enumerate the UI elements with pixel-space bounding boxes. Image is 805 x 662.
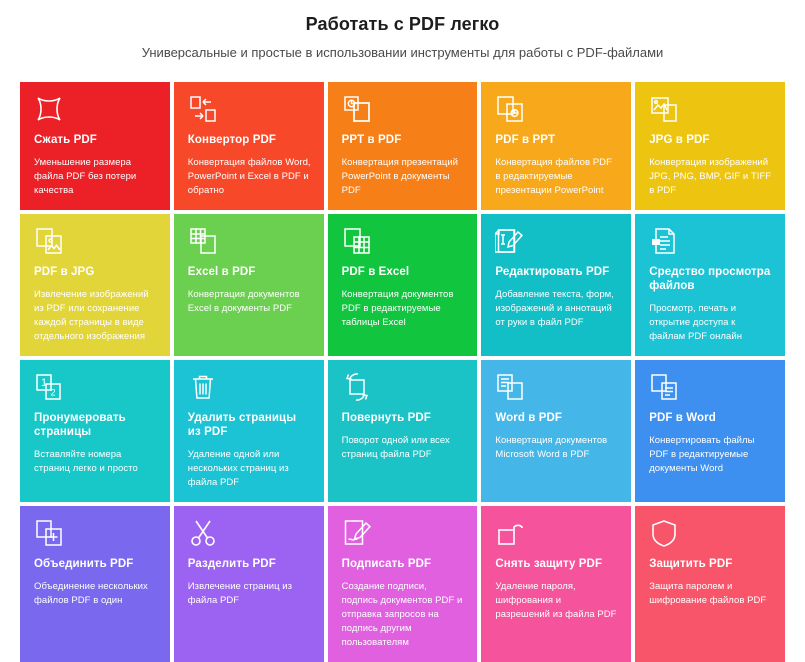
page-header: Работать с PDF легко Универсальные и про…: [0, 0, 805, 62]
pdf-to-ppt-icon: [495, 94, 527, 124]
tool-card[interactable]: Защитить PDFЗащита паролем и шифрование …: [635, 506, 785, 662]
excel-to-pdf-icon: [188, 226, 220, 256]
tool-name: Подписать PDF: [342, 557, 465, 571]
tool-card[interactable]: PPT в PDFКонвертация презентаций PowerPo…: [328, 82, 478, 210]
tool-card[interactable]: Редактировать PDFДобавление текста, форм…: [481, 214, 631, 356]
compress-icon: [34, 94, 66, 124]
tool-name: Excel в PDF: [188, 265, 311, 279]
convert-icon: [188, 94, 220, 124]
tool-description: Просмотр, печать и открытие доступа к фа…: [649, 302, 772, 344]
ppt-to-pdf-icon: [342, 94, 374, 124]
tool-card[interactable]: Сжать PDFУменьшение размера файла PDF бе…: [20, 82, 170, 210]
jpg-to-pdf-icon: [649, 94, 681, 124]
tool-card[interactable]: JPG в PDFКонвертация изображений JPG, PN…: [635, 82, 785, 210]
unlock-icon: [495, 518, 527, 548]
tool-card[interactable]: 12Пронумеровать страницыВставляйте номер…: [20, 360, 170, 502]
page-numbers-icon: 12: [34, 372, 66, 402]
tool-name: Снять защиту PDF: [495, 557, 618, 571]
tool-name: Сжать PDF: [34, 133, 157, 147]
tool-name: PDF в Word: [649, 411, 772, 425]
tool-description: Удаление одной или нескольких страниц из…: [188, 448, 311, 490]
tool-name: Защитить PDF: [649, 557, 772, 571]
tool-card[interactable]: Конвертор PDFКонвертация файлов Word, Po…: [174, 82, 324, 210]
tool-name: Редактировать PDF: [495, 265, 618, 279]
tool-card[interactable]: Повернуть PDFПоворот одной или всех стра…: [328, 360, 478, 502]
tool-name: Удалить страницы из PDF: [188, 411, 311, 439]
tool-card[interactable]: PDF в ExcelКонвертация документов PDF в …: [328, 214, 478, 356]
tool-description: Конвертация изображений JPG, PNG, BMP, G…: [649, 156, 772, 198]
tool-description: Добавление текста, форм, изображений и а…: [495, 288, 618, 330]
tool-name: Конвертор PDF: [188, 133, 311, 147]
pdf-to-word-icon: [649, 372, 681, 402]
tool-card[interactable]: Подписать PDFСоздание подписи, подпись д…: [328, 506, 478, 662]
tool-description: Конвертация файлов Word, PowerPoint и Ex…: [188, 156, 311, 198]
file-viewer-icon: [649, 226, 681, 256]
tool-card[interactable]: Снять защиту PDFУдаление пароля, шифрова…: [481, 506, 631, 662]
tool-card[interactable]: Разделить PDFИзвлечение страниц из файла…: [174, 506, 324, 662]
tool-description: Создание подписи, подпись документов PDF…: [342, 580, 465, 650]
tool-description: Конвертация презентаций PowerPoint в док…: [342, 156, 465, 198]
tool-card[interactable]: Excel в PDFКонвертация документов Excel …: [174, 214, 324, 356]
rotate-icon: [342, 372, 374, 402]
tool-name: Разделить PDF: [188, 557, 311, 571]
tool-description: Конвертация документов PDF в редактируем…: [342, 288, 465, 330]
shield-icon: [649, 518, 681, 548]
svg-text:1: 1: [41, 377, 47, 389]
page-title: Работать с PDF легко: [0, 12, 805, 36]
tool-card[interactable]: PDF в PPTКонвертация файлов PDF в редакт…: [481, 82, 631, 210]
tool-description: Уменьшение размера файла PDF без потери …: [34, 156, 157, 198]
tool-name: PDF в PPT: [495, 133, 618, 147]
edit-pdf-icon: [495, 226, 527, 256]
word-to-pdf-icon: [495, 372, 527, 402]
tool-name: PDF в JPG: [34, 265, 157, 279]
tool-description: Конвертация документов Microsoft Word в …: [495, 434, 618, 462]
tool-name: PDF в Excel: [342, 265, 465, 279]
tool-description: Объединение нескольких файлов PDF в один: [34, 580, 157, 608]
tool-name: Средство просмотра файлов: [649, 265, 772, 293]
scissors-icon: [188, 518, 220, 548]
sign-icon: [342, 518, 374, 548]
tool-name: Пронумеровать страницы: [34, 411, 157, 439]
tool-description: Извлечение изображений из PDF или сохран…: [34, 288, 157, 344]
tool-name: JPG в PDF: [649, 133, 772, 147]
tool-description: Защита паролем и шифрование файлов PDF: [649, 580, 772, 608]
tool-card[interactable]: PDF в WordКонвертировать файлы PDF в ред…: [635, 360, 785, 502]
tool-description: Вставляйте номера страниц легко и просто: [34, 448, 157, 476]
tool-description: Удаление пароля, шифрования и разрешений…: [495, 580, 618, 622]
tools-grid: Сжать PDFУменьшение размера файла PDF бе…: [20, 82, 785, 662]
page-subtitle: Универсальные и простые в использовании …: [0, 36, 805, 62]
tool-description: Поворот одной или всех страниц файла PDF: [342, 434, 465, 462]
tool-description: Конвертировать файлы PDF в редактируемые…: [649, 434, 772, 476]
tool-name: PPT в PDF: [342, 133, 465, 147]
pdf-to-excel-icon: [342, 226, 374, 256]
pdf-to-jpg-icon: [34, 226, 66, 256]
tool-description: Извлечение страниц из файла PDF: [188, 580, 311, 608]
svg-text:2: 2: [51, 388, 56, 398]
trash-icon: [188, 372, 220, 402]
tool-card[interactable]: Word в PDFКонвертация документов Microso…: [481, 360, 631, 502]
tool-description: Конвертация документов Excel в документы…: [188, 288, 311, 316]
tool-name: Word в PDF: [495, 411, 618, 425]
tool-card[interactable]: Средство просмотра файловПросмотр, печат…: [635, 214, 785, 356]
tool-description: Конвертация файлов PDF в редактируемые п…: [495, 156, 618, 198]
tool-card[interactable]: Удалить страницы из PDFУдаление одной ил…: [174, 360, 324, 502]
tool-card[interactable]: Объединить PDFОбъединение нескольких фай…: [20, 506, 170, 662]
tool-name: Повернуть PDF: [342, 411, 465, 425]
merge-icon: [34, 518, 66, 548]
tool-card[interactable]: PDF в JPGИзвлечение изображений из PDF и…: [20, 214, 170, 356]
tool-name: Объединить PDF: [34, 557, 157, 571]
